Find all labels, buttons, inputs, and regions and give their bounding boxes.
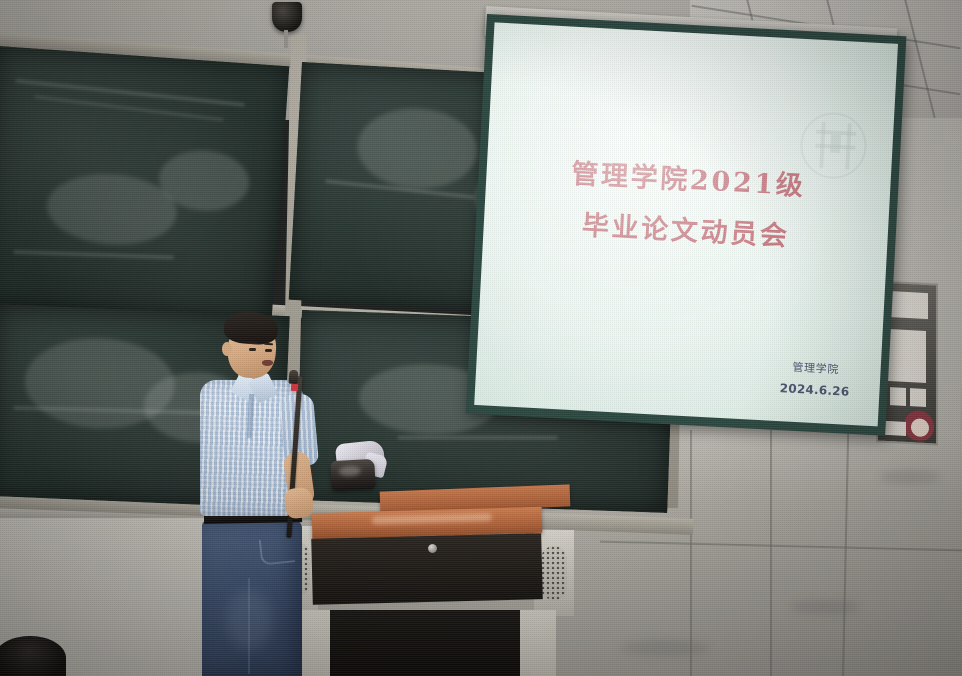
classroom-photo-scene: 管理学院2021级 毕业论文动员会 管理学院 2024.6.26 bbox=[0, 0, 962, 676]
blackboard-panel bbox=[0, 46, 289, 322]
wall-smudge bbox=[620, 640, 710, 656]
lectern-front-panel bbox=[311, 533, 543, 605]
presenter-mouth bbox=[262, 360, 273, 366]
presenter-hair bbox=[223, 310, 279, 346]
presenter-eye bbox=[265, 349, 272, 352]
handbag bbox=[330, 459, 376, 491]
presenter-ear bbox=[222, 342, 232, 356]
microphone-head-icon bbox=[289, 370, 299, 385]
slide-surface: 管理学院2021级 毕业论文动员会 管理学院 2024.6.26 bbox=[474, 22, 898, 426]
lectern-lock-icon[interactable] bbox=[428, 544, 437, 553]
microphone-indicator-icon bbox=[291, 384, 298, 391]
slide-footer: 管理学院 2024.6.26 bbox=[779, 358, 851, 399]
wall-smudge bbox=[880, 470, 940, 484]
lectern-base-recess bbox=[330, 610, 520, 676]
camera-mount bbox=[284, 30, 288, 48]
presenter-hand bbox=[284, 487, 315, 520]
projection-screen[interactable]: 管理学院2021级 毕业论文动员会 管理学院 2024.6.26 bbox=[466, 14, 907, 436]
presenter-jeans bbox=[202, 520, 302, 676]
ceiling-dome-camera-icon bbox=[272, 2, 302, 32]
slide-title-line-2: 毕业论文动员会 bbox=[483, 201, 889, 263]
slide-footer-date: 2024.6.26 bbox=[779, 381, 849, 399]
wall-seam bbox=[770, 430, 772, 676]
slide-footer-org: 管理学院 bbox=[781, 358, 851, 378]
speaker-grille-icon bbox=[541, 546, 567, 600]
wall-smudge bbox=[790, 600, 860, 614]
foreground-silhouette bbox=[0, 636, 66, 676]
presenter-eye bbox=[249, 348, 256, 351]
presenter bbox=[186, 312, 326, 676]
